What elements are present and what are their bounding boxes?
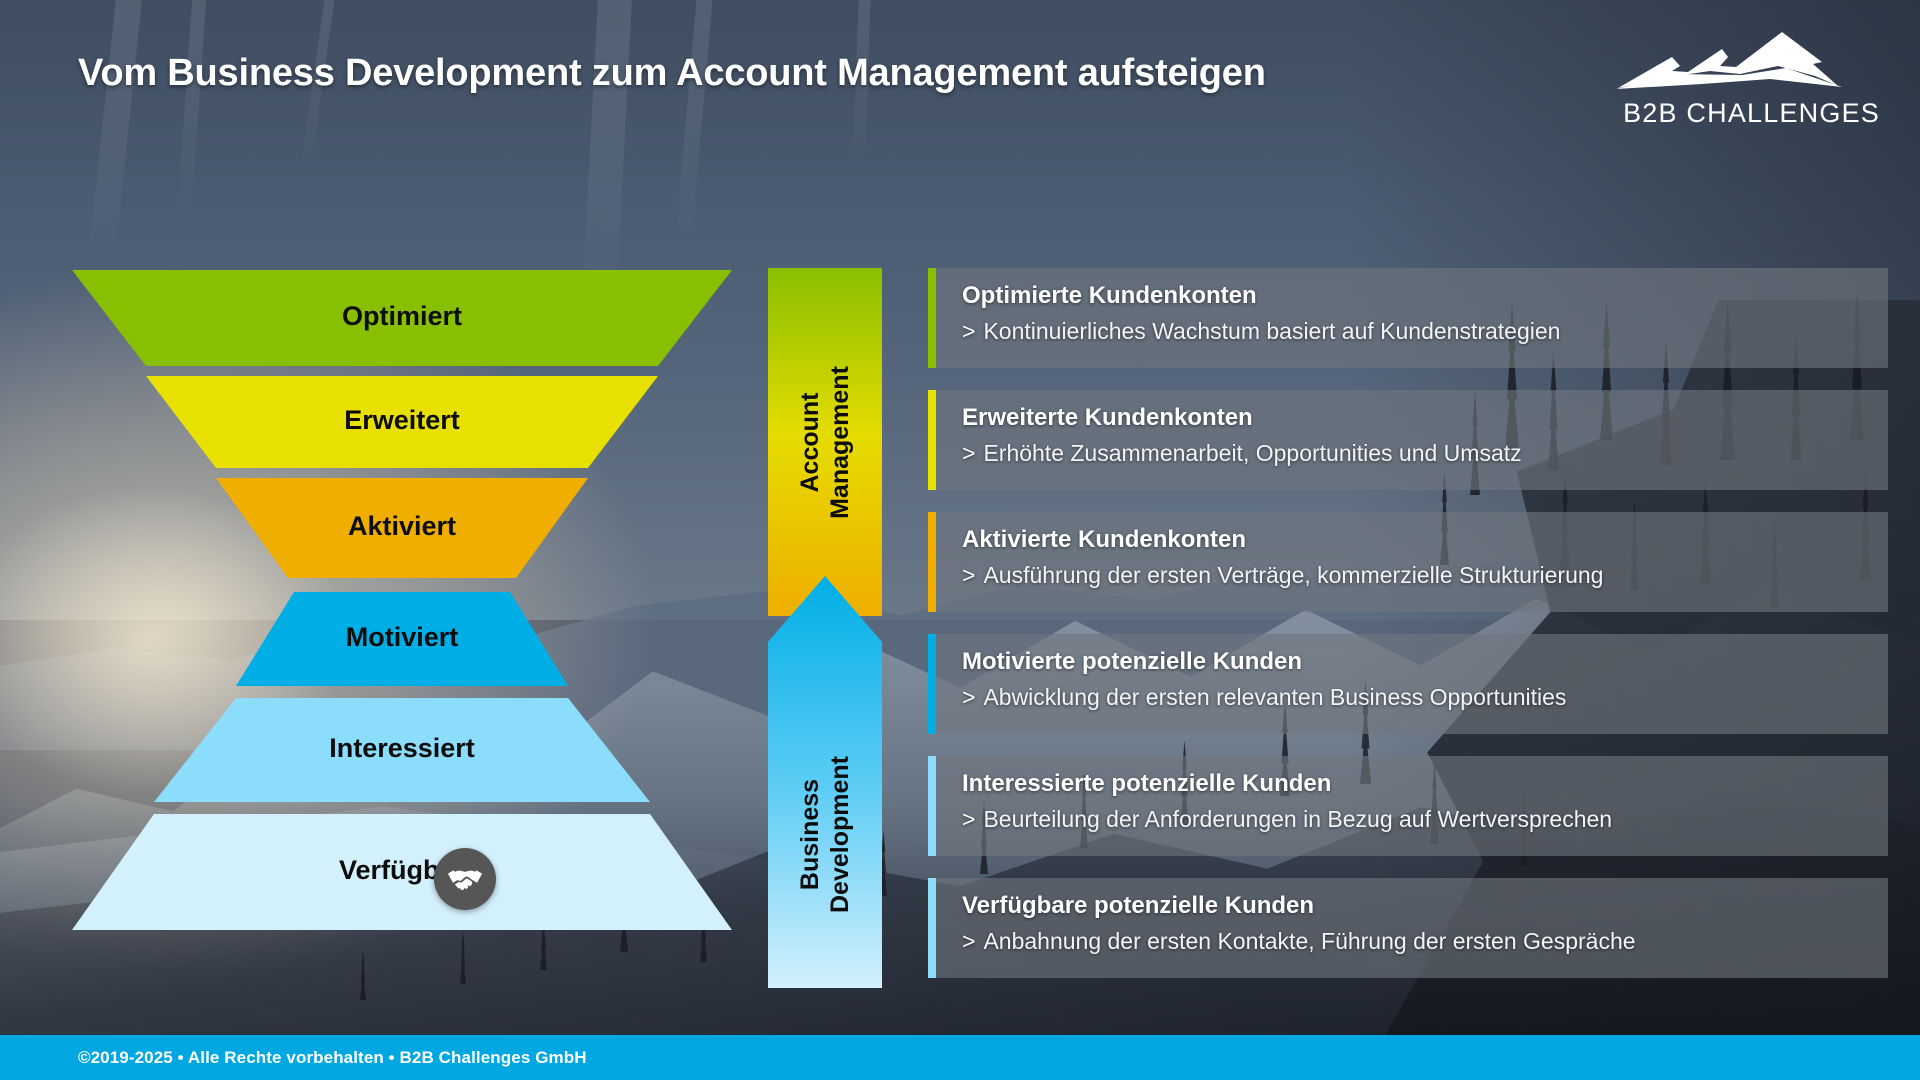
row-description-text: Abwicklung der ersten relevanten Busines… (983, 684, 1566, 710)
copyright-text: ©2019-2025 • Alle Rechte vorbehalten • B… (78, 1048, 587, 1068)
logo-text: B2B CHALLENGES (1610, 98, 1880, 129)
mountain-icon (1610, 24, 1880, 96)
row-body: Interessierte potenzielle Kunden >Beurte… (936, 756, 1888, 856)
brand-logo: B2B CHALLENGES (1610, 24, 1880, 134)
row-body: Verfügbare potenzielle Kunden >Anbahnung… (936, 878, 1888, 978)
phase-label-account-management: AccountManagement (796, 366, 855, 519)
stage-description-list: Optimierte Kundenkonten >Kontinuierliche… (928, 268, 1888, 1000)
row-description: >Kontinuierliches Wachstum basiert auf K… (962, 318, 1870, 345)
list-item[interactable]: Erweiterte Kundenkonten >Erhöhte Zusamme… (928, 390, 1888, 490)
row-title: Interessierte potenzielle Kunden (962, 770, 1870, 798)
list-item[interactable]: Interessierte potenzielle Kunden >Beurte… (928, 756, 1888, 856)
row-description: >Abwicklung der ersten relevanten Busine… (962, 684, 1870, 711)
chevron-right-icon: > (962, 806, 975, 833)
chevron-right-icon: > (962, 684, 975, 711)
header: Vom Business Development zum Account Man… (0, 0, 1920, 180)
chevron-right-icon: > (962, 562, 975, 589)
row-accent-bar (928, 756, 936, 856)
row-accent-bar (928, 634, 936, 734)
infographic-canvas: Vom Business Development zum Account Man… (0, 0, 1920, 1080)
page-title: Vom Business Development zum Account Man… (78, 52, 1266, 95)
funnel-segment-label: Interessiert (72, 733, 732, 764)
chevron-right-icon: > (962, 318, 975, 345)
row-description-text: Beurteilung der Anforderungen in Bezug a… (983, 806, 1612, 832)
row-body: Optimierte Kundenkonten >Kontinuierliche… (936, 268, 1888, 368)
phase-segment-business-development[interactable]: BusinessDevelopment (768, 576, 882, 988)
row-accent-bar (928, 512, 936, 612)
row-accent-bar (928, 268, 936, 368)
row-description-text: Kontinuierliches Wachstum basiert auf Ku… (983, 318, 1560, 344)
row-description-text: Anbahnung der ersten Kontakte, Führung d… (983, 928, 1635, 954)
row-description-text: Ausführung der ersten Verträge, kommerzi… (983, 562, 1603, 588)
row-title: Motivierte potenzielle Kunden (962, 648, 1870, 676)
row-description: >Ausführung der ersten Verträge, kommerz… (962, 562, 1870, 589)
chevron-right-icon: > (962, 928, 975, 955)
row-title: Aktivierte Kundenkonten (962, 526, 1870, 554)
funnel-segment-label: Motiviert (72, 622, 732, 653)
funnel-segment-label: Erweitert (72, 405, 732, 436)
footer-bar: ©2019-2025 • Alle Rechte vorbehalten • B… (0, 1035, 1920, 1080)
row-title: Erweiterte Kundenkonten (962, 404, 1870, 432)
funnel-diagram: OptimiertErweitertAktiviertMotiviertInte… (72, 268, 732, 988)
handshake-icon (434, 848, 496, 910)
row-description: >Beurteilung der Anforderungen in Bezug … (962, 806, 1870, 833)
list-item[interactable]: Optimierte Kundenkonten >Kontinuierliche… (928, 268, 1888, 368)
row-description-text: Erhöhte Zusammenarbeit, Opportunities un… (983, 440, 1521, 466)
chevron-right-icon: > (962, 440, 975, 467)
row-description: >Anbahnung der ersten Kontakte, Führung … (962, 928, 1870, 955)
funnel-segment-label: Optimiert (72, 301, 732, 332)
phase-label-business-development: BusinessDevelopment (796, 756, 855, 913)
funnel-segment-label: Aktiviert (72, 511, 732, 542)
row-body: Motivierte potenzielle Kunden >Abwicklun… (936, 634, 1888, 734)
row-description: >Erhöhte Zusammenarbeit, Opportunities u… (962, 440, 1870, 467)
row-accent-bar (928, 390, 936, 490)
row-accent-bar (928, 878, 936, 978)
phase-segment-account-management[interactable]: AccountManagement (768, 268, 882, 616)
list-item[interactable]: Motivierte potenzielle Kunden >Abwicklun… (928, 634, 1888, 734)
row-body: Aktivierte Kundenkonten >Ausführung der … (936, 512, 1888, 612)
list-item[interactable]: Aktivierte Kundenkonten >Ausführung der … (928, 512, 1888, 612)
row-title: Optimierte Kundenkonten (962, 282, 1870, 310)
phase-arrow-bar: AccountManagementBusinessDevelopment (768, 268, 882, 988)
funnel-segment-label: Verfügbar (72, 855, 732, 886)
row-title: Verfügbare potenzielle Kunden (962, 892, 1870, 920)
row-body: Erweiterte Kundenkonten >Erhöhte Zusamme… (936, 390, 1888, 490)
list-item[interactable]: Verfügbare potenzielle Kunden >Anbahnung… (928, 878, 1888, 978)
